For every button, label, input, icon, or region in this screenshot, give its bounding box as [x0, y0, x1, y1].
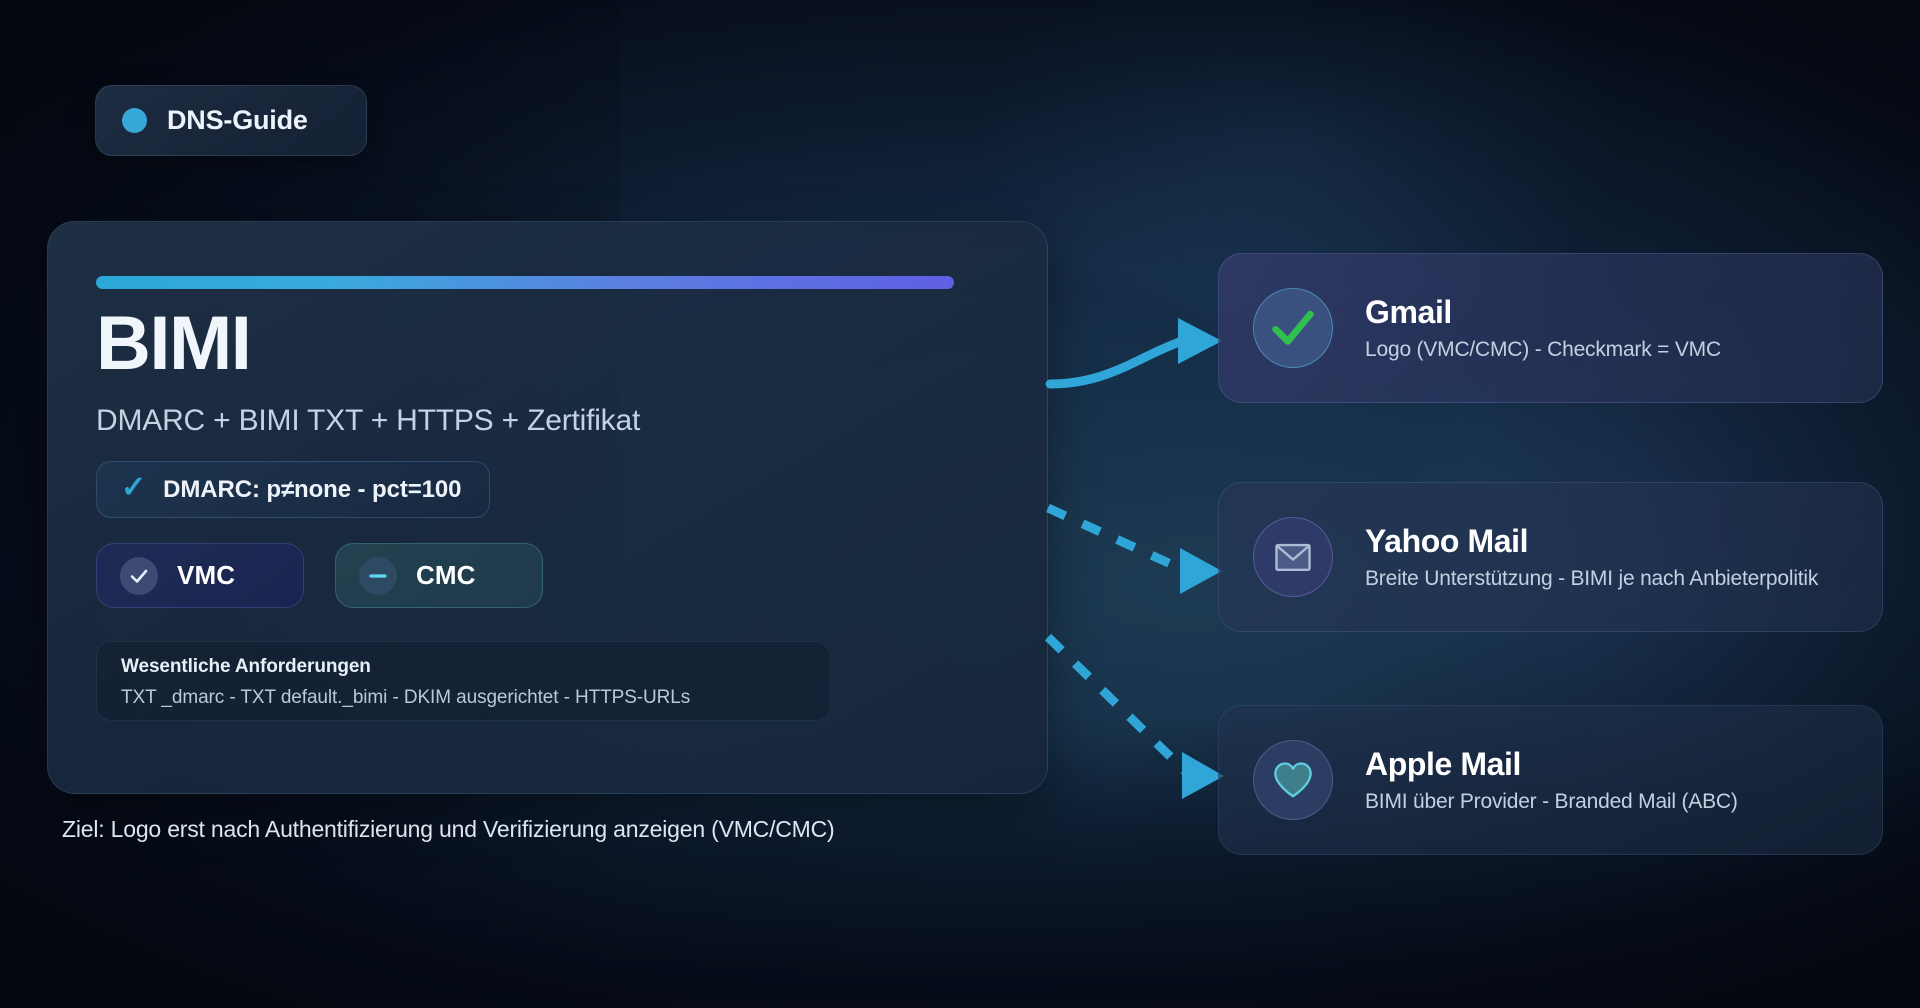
requirements-detail: TXT _dmarc - TXT default._bimi - DKIM au…: [121, 687, 806, 709]
heart-icon: [1253, 740, 1333, 820]
provider-text-yahoo: Yahoo Mail Breite Unterstützung - BIMI j…: [1365, 523, 1818, 591]
badge-dot-icon: [122, 108, 147, 133]
card-subtitle: DMARC + BIMI TXT + HTTPS + Zertifikat: [96, 404, 640, 438]
green-check-icon: [1253, 288, 1333, 368]
provider-desc-yahoo: Breite Unterstützung - BIMI je nach Anbi…: [1365, 567, 1818, 591]
check-circle-icon: [120, 557, 158, 595]
dmarc-status-pill[interactable]: ✓ DMARC: p≠none - pct=100: [96, 461, 490, 518]
certificate-options-row: VMC CMC: [96, 543, 543, 608]
provider-name-gmail: Gmail: [1365, 294, 1721, 331]
minus-circle-icon: [359, 557, 397, 595]
provider-text-apple: Apple Mail BIMI über Provider - Branded …: [1365, 746, 1738, 814]
provider-card-apple[interactable]: Apple Mail BIMI über Provider - Branded …: [1218, 705, 1883, 855]
dns-guide-badge[interactable]: DNS-Guide: [95, 85, 367, 156]
check-icon: ✓: [121, 473, 146, 503]
provider-desc-gmail: Logo (VMC/CMC) - Checkmark = VMC: [1365, 338, 1721, 362]
provider-card-gmail[interactable]: Gmail Logo (VMC/CMC) - Checkmark = VMC: [1218, 253, 1883, 403]
dmarc-pill-label: DMARC: p≠none - pct=100: [163, 476, 461, 504]
provider-name-apple: Apple Mail: [1365, 746, 1738, 783]
cert-button-cmc[interactable]: CMC: [335, 543, 543, 608]
requirements-box: Wesentliche Anforderungen TXT _dmarc - T…: [96, 641, 831, 721]
provider-card-yahoo[interactable]: Yahoo Mail Breite Unterstützung - BIMI j…: [1218, 482, 1883, 632]
requirements-title: Wesentliche Anforderungen: [121, 656, 806, 678]
provider-text-gmail: Gmail Logo (VMC/CMC) - Checkmark = VMC: [1365, 294, 1721, 362]
footer-note: Ziel: Logo erst nach Authentifizierung u…: [62, 816, 835, 843]
cert-button-vmc[interactable]: VMC: [96, 543, 304, 608]
cert-button-cmc-label: CMC: [416, 560, 476, 591]
page-title: BIMI: [96, 306, 250, 382]
badge-label: DNS-Guide: [167, 105, 308, 136]
envelope-icon: [1253, 517, 1333, 597]
accent-gradient-bar: [96, 276, 954, 289]
provider-name-yahoo: Yahoo Mail: [1365, 523, 1818, 560]
cert-button-vmc-label: VMC: [177, 560, 235, 591]
provider-desc-apple: BIMI über Provider - Branded Mail (ABC): [1365, 790, 1738, 814]
bimi-main-card: BIMI DMARC + BIMI TXT + HTTPS + Zertifik…: [47, 221, 1048, 794]
